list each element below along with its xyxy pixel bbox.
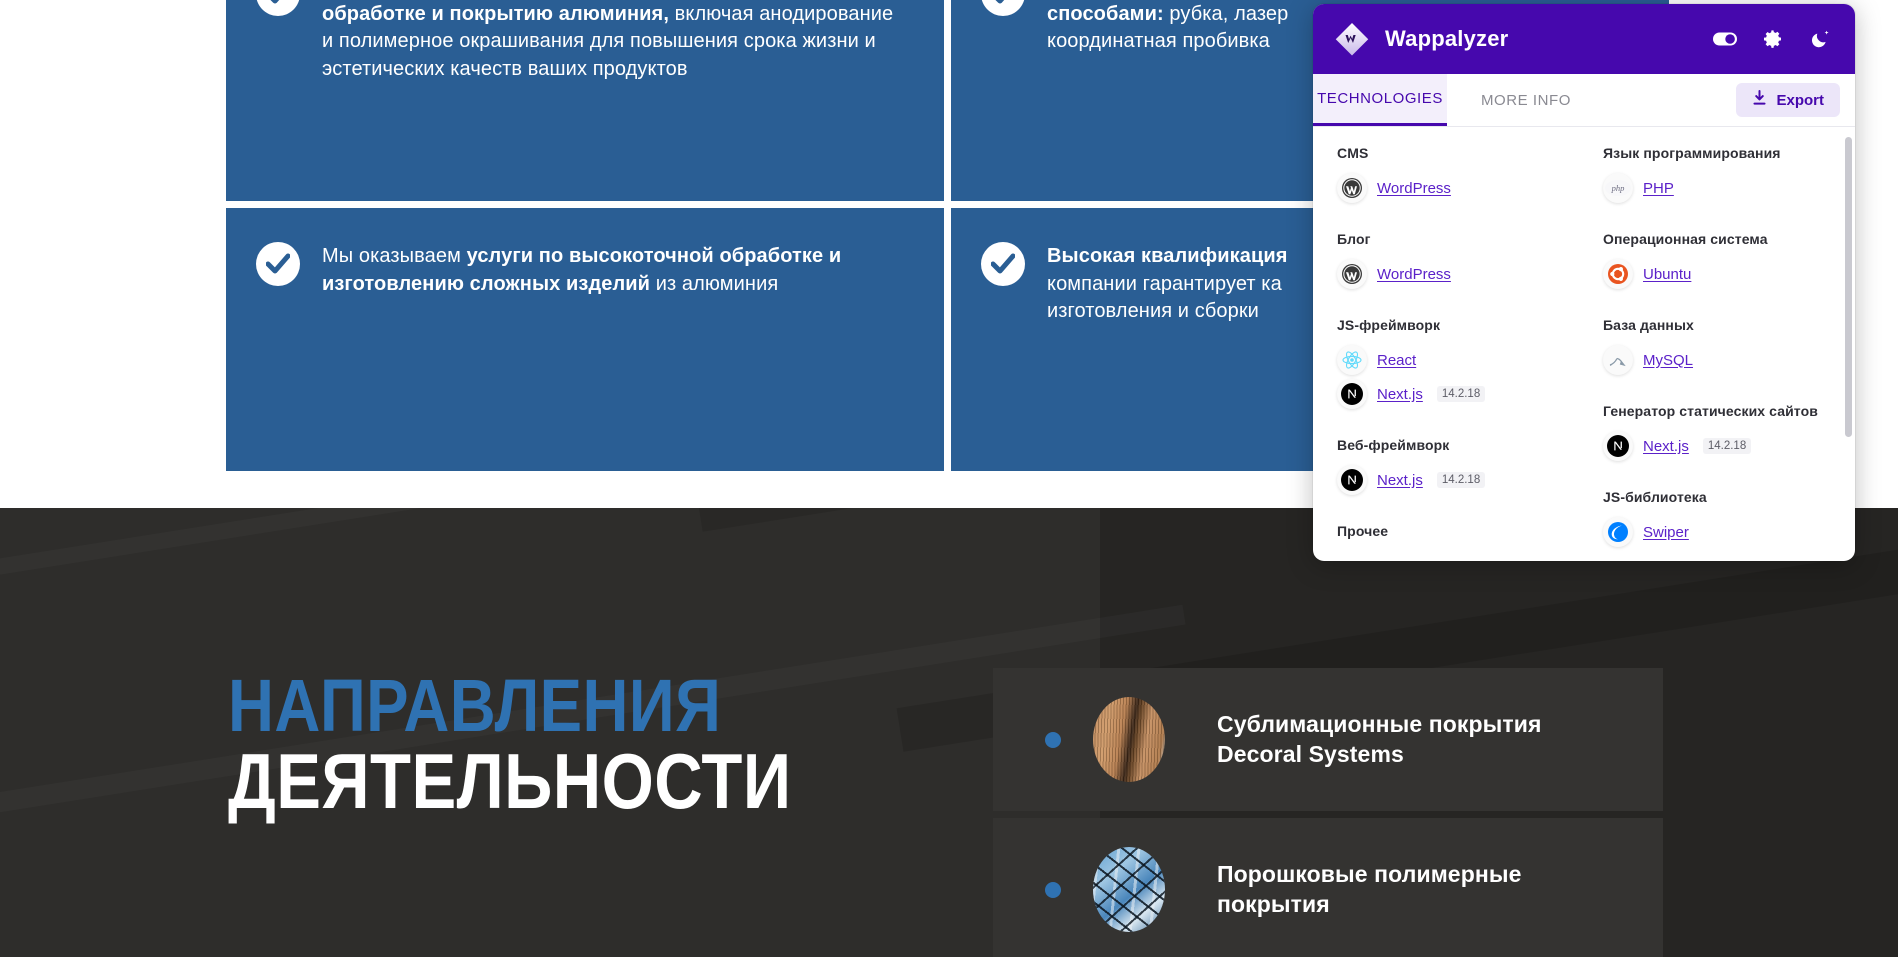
technology-column-right: Язык программирования php PHP Операционн… [1579,145,1855,549]
wordpress-icon [1337,259,1367,289]
card3-lead: Мы оказываем [322,245,467,267]
technology-column-left: CMS WordPress Блог [1313,145,1579,549]
card4-strong: Высокая квалификация [1047,245,1288,267]
directions-list: Сублимационные покрытия Decoral Systems … [993,668,1663,957]
tech-item[interactable]: WordPress [1337,257,1579,291]
direction-thumbnail [1093,697,1165,782]
nextjs-icon [1603,431,1633,461]
tech-item[interactable]: WordPress [1337,171,1579,205]
direction-title: Порошковые полимерные покрытия [1217,860,1521,919]
heading-line-2: ДЕЯТЕЛЬНОСТИ [228,746,791,818]
screen: Мы оказываем широкий спектр услуг по фин… [0,0,1898,957]
direction-title-line-1: Порошковые полимерные [1217,861,1521,887]
popup-body[interactable]: CMS WordPress Блог [1313,127,1855,561]
tech-group: Блог WordPress [1337,231,1579,291]
gear-icon[interactable] [1761,27,1785,51]
tech-version: 14.2.18 [1437,386,1485,402]
tech-group: База данных MySQL [1603,317,1855,377]
advantage-card-2-text: Мы оказываем услуги по способами: рубка,… [1047,0,1288,56]
tech-category-label: Генератор статических сайтов [1603,403,1855,419]
tech-category-label: Прочее [1337,523,1579,539]
export-label: Export [1776,92,1824,109]
direction-title-line-1: Сублимационные покрытия [1217,711,1542,737]
php-icon: php [1603,173,1633,203]
tech-item[interactable]: Next.js 14.2.18 [1603,429,1855,463]
tech-group: Веб-фреймворк Next.js 14.2.18 [1337,437,1579,497]
tech-name[interactable]: MySQL [1643,352,1693,369]
card4-line2: компании гарантирует ка [1047,273,1282,295]
tech-name[interactable]: Next.js [1643,438,1689,455]
tech-category-label: Операционная система [1603,231,1855,247]
check-circle-icon [981,0,1025,16]
popup-tabs: TECHNOLOGIES MORE INFO Export [1313,74,1855,127]
tech-group: CMS WordPress [1337,145,1579,205]
bullet-dot-icon [1045,882,1061,898]
card2-line2-strong: способами: [1047,3,1164,25]
dark-mode-moon-icon[interactable] [1809,27,1833,51]
heading-line-1: НАПРАВЛЕНИЯ [228,672,791,740]
section-heading: НАПРАВЛЕНИЯ ДЕЯТЕЛЬНОСТИ [228,672,883,818]
tech-category-label: База данных [1603,317,1855,333]
tab-technologies[interactable]: TECHNOLOGIES [1313,74,1447,126]
check-circle-icon [981,242,1025,286]
ubuntu-icon [1603,259,1633,289]
tech-name[interactable]: Swiper [1643,524,1689,541]
wordpress-icon [1337,173,1367,203]
tech-group: JS-фреймворк React Next.js [1337,317,1579,411]
svg-text:php: php [1611,183,1625,193]
tech-name[interactable]: React [1377,352,1416,369]
check-circle-icon [256,242,300,286]
direction-thumbnail [1093,847,1165,932]
swiper-icon [1603,517,1633,547]
bullet-dot-icon [1045,732,1061,748]
direction-item[interactable]: Сублимационные покрытия Decoral Systems [993,668,1663,811]
direction-title: Сублимационные покрытия Decoral Systems [1217,710,1542,769]
tech-item[interactable]: Next.js 14.2.18 [1337,377,1579,411]
advantage-card-1-text: Мы оказываем широкий спектр услуг по фин… [322,0,910,83]
tech-group: Прочее [1337,523,1579,539]
tech-item[interactable]: Ubuntu [1603,257,1855,291]
tech-group: Операционная система Ubuntu [1603,231,1855,291]
nextjs-icon [1337,465,1367,495]
tech-category-label: Язык программирования [1603,145,1855,161]
tech-group: Генератор статических сайтов Next.js 14.… [1603,403,1855,463]
react-icon [1337,345,1367,375]
wappalyzer-popup: Wappalyzer TECHNOLOGIES MORE INFO [1313,4,1855,561]
direction-item[interactable]: Порошковые полимерные покрытия [993,818,1663,957]
download-icon [1752,90,1767,110]
popup-header: Wappalyzer [1313,4,1855,74]
wappalyzer-logo-icon [1333,20,1371,58]
advantage-card-4-text: Высокая квалификация компании гарантируе… [1047,238,1288,326]
direction-title-line-2: покрытия [1217,891,1330,917]
popup-title: Wappalyzer [1385,26,1508,52]
tech-item[interactable]: MySQL [1603,343,1855,377]
toggle-switch-icon[interactable] [1713,27,1737,51]
tech-category-label: Блог [1337,231,1579,247]
advantage-card-3: Мы оказываем услуги по высокоточной обра… [226,208,944,471]
tech-name[interactable]: Next.js [1377,386,1423,403]
tab-more-info[interactable]: MORE INFO [1447,74,1605,126]
nextjs-icon [1337,379,1367,409]
tech-category-label: CMS [1337,145,1579,161]
card2-line3: координатная пробивка [1047,30,1270,52]
card4-line3: изготовления и сборки [1047,300,1259,322]
tech-name[interactable]: Next.js [1377,472,1423,489]
tech-item[interactable]: php PHP [1603,171,1855,205]
card2-line2-rest: рубка, лазер [1164,3,1289,25]
tech-name[interactable]: PHP [1643,180,1674,197]
tech-name[interactable]: WordPress [1377,266,1451,283]
direction-title-line-2: Decoral Systems [1217,741,1404,767]
tech-item[interactable]: Swiper [1603,515,1855,549]
tech-version: 14.2.18 [1703,438,1751,454]
tech-group: Язык программирования php PHP [1603,145,1855,205]
popup-scrollbar[interactable] [1845,137,1852,437]
advantage-card-1: Мы оказываем широкий спектр услуг по фин… [226,0,944,201]
check-circle-icon [256,0,300,16]
technology-columns: CMS WordPress Блог [1313,145,1855,549]
bg-streak [0,508,1324,584]
card3-tail: из алюминия [650,273,778,295]
tech-name[interactable]: Ubuntu [1643,266,1691,283]
tech-item[interactable]: React [1337,343,1579,377]
tech-name[interactable]: WordPress [1377,180,1451,197]
tech-version: 14.2.18 [1437,472,1485,488]
tech-category-label: Веб-фреймворк [1337,437,1579,453]
tech-category-label: JS-библиотека [1603,489,1855,505]
advantage-card-3-text: Мы оказываем услуги по высокоточной обра… [322,238,910,298]
tech-group: JS-библиотека Swiper [1603,489,1855,549]
mysql-icon [1603,345,1633,375]
tech-item[interactable]: Next.js 14.2.18 [1337,463,1579,497]
popup-header-actions [1713,27,1833,51]
export-button[interactable]: Export [1736,83,1840,117]
tech-category-label: JS-фреймворк [1337,317,1579,333]
